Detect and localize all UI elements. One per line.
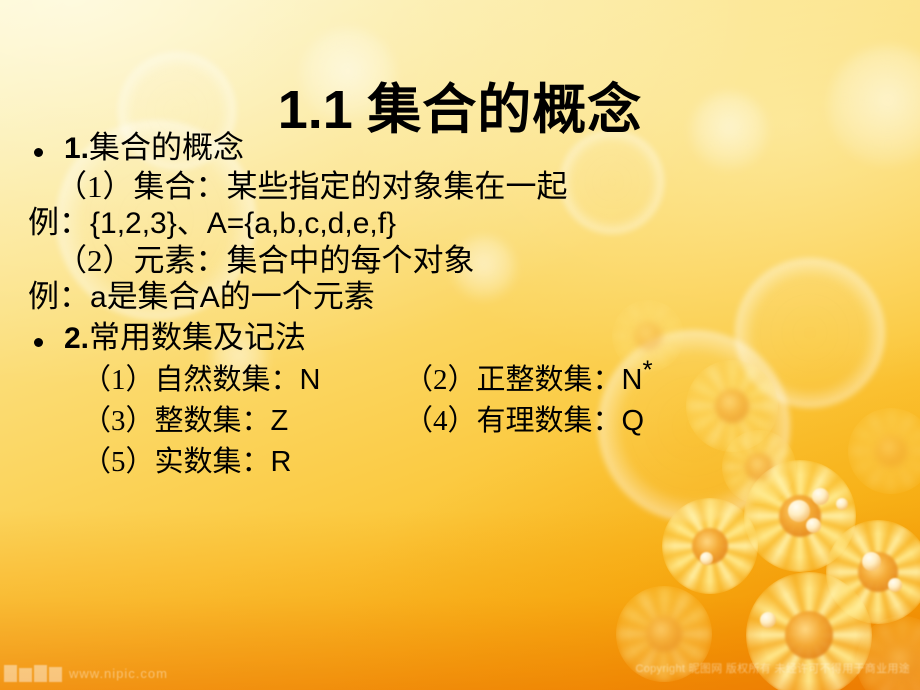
watermark-mark-icon bbox=[4, 665, 62, 682]
example-prefix: 例： bbox=[28, 279, 90, 314]
number-set-label: 自然数集： bbox=[155, 364, 300, 396]
number-set-label: 正整数集： bbox=[477, 364, 622, 396]
number-set-item: （5）实数集：R bbox=[82, 447, 404, 477]
section-heading-text: 集合的概念 bbox=[89, 130, 244, 165]
definition-line-set: （1）集合：某些指定的对象集在一起 bbox=[26, 171, 894, 203]
number-set-symbol: R bbox=[271, 446, 292, 478]
number-set-index: （1） bbox=[82, 364, 155, 396]
number-set-row: （3）整数集：Z （4）有理数集：Q bbox=[26, 406, 894, 436]
number-set-symbol: N bbox=[622, 364, 643, 396]
definition-line-element: （2）元素：集合中的每个对象 bbox=[26, 245, 894, 277]
example-element-mid: 是集合 bbox=[107, 279, 200, 314]
number-set-label: 实数集： bbox=[155, 446, 271, 478]
number-set-symbol: Z bbox=[271, 405, 289, 437]
number-set-table: （1）自然数集：N （2）正整数集：N* （3）整数集：Z （4）有理数集：Q bbox=[26, 365, 894, 478]
number-set-symbol: Q bbox=[622, 405, 645, 437]
section-number: 2. bbox=[64, 322, 89, 355]
slide-content: 1.1 集合的概念 1.集合的概念 （1）集合：某些指定的对象集在一起 例：{1… bbox=[0, 0, 920, 690]
number-set-item: （3）整数集：Z bbox=[82, 406, 404, 436]
example-element-A: A bbox=[200, 281, 220, 314]
number-set-index: （2） bbox=[404, 364, 477, 396]
number-set-index: （5） bbox=[82, 446, 155, 478]
bullet-dot-icon bbox=[34, 338, 43, 347]
example-element-tail: 的一个元素 bbox=[220, 279, 375, 314]
bullet-item-number-sets: 2.常用数集及记法 bbox=[26, 322, 894, 355]
example-set-notation: {1,2,3}、A={a,b,c,d,e,f} bbox=[90, 207, 396, 240]
section-number: 1. bbox=[64, 132, 89, 165]
section-heading-text: 常用数集及记法 bbox=[89, 320, 306, 355]
example-line-set: 例：{1,2,3}、A={a,b,c,d,e,f} bbox=[26, 207, 894, 240]
watermark-copyright-right: Copyright 昵图网 版权所有 未经许可不得用于商业用途 bbox=[635, 660, 910, 676]
watermark-logo-left: www.nipic.com bbox=[4, 665, 168, 682]
presentation-slide: 1.1 集合的概念 1.集合的概念 （1）集合：某些指定的对象集在一起 例：{1… bbox=[0, 0, 920, 690]
number-set-row: （5）实数集：R bbox=[26, 447, 894, 477]
example-line-element: 例：a是集合A的一个元素 bbox=[26, 281, 894, 314]
watermark-url: www.nipic.com bbox=[69, 666, 168, 681]
number-set-item: （1）自然数集：N bbox=[82, 365, 404, 395]
number-set-item: （2）正整数集：N* bbox=[404, 365, 653, 395]
number-set-row: （1）自然数集：N （2）正整数集：N* bbox=[26, 365, 894, 395]
number-set-item: （4）有理数集：Q bbox=[404, 406, 644, 436]
number-set-label: 整数集： bbox=[155, 405, 271, 437]
number-set-index: （3） bbox=[82, 405, 155, 437]
number-set-symbol: N bbox=[300, 364, 321, 396]
number-set-index: （4） bbox=[404, 405, 477, 437]
example-prefix: 例： bbox=[28, 205, 90, 240]
bullet-dot-icon bbox=[34, 148, 43, 157]
bullet-item-concept: 1.集合的概念 bbox=[26, 132, 894, 165]
number-set-superscript: * bbox=[642, 354, 652, 384]
body-text-block: 1.集合的概念 （1）集合：某些指定的对象集在一起 例：{1,2,3}、A={a… bbox=[26, 132, 894, 489]
number-set-label: 有理数集： bbox=[477, 405, 622, 437]
example-element-a: a bbox=[90, 281, 107, 314]
